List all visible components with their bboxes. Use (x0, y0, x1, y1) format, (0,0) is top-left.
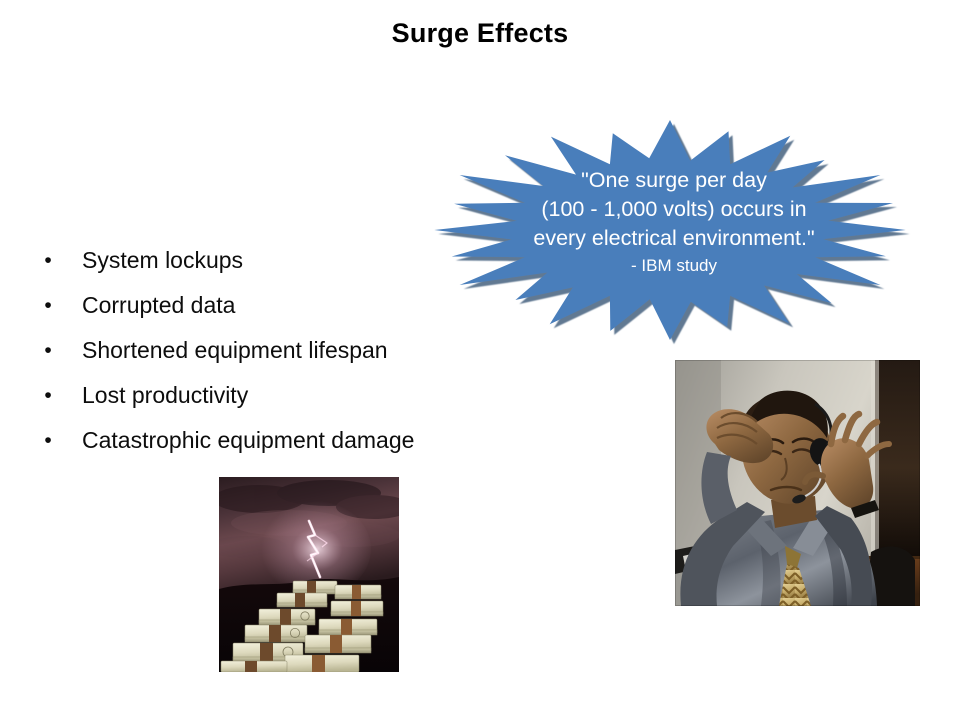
quote-text-block: "One surge per day (100 - 1,000 volts) o… (484, 166, 864, 278)
quote-line: (100 - 1,000 volts) occurs in (484, 195, 864, 224)
money-lightning-photo (219, 477, 399, 672)
bullet-icon: • (42, 238, 54, 283)
list-item: • Catastrophic equipment damage (38, 418, 508, 463)
bullet-icon: • (42, 373, 54, 418)
list-item-label: Lost productivity (82, 382, 248, 408)
list-item-label: Corrupted data (82, 292, 235, 318)
page-title: Surge Effects (0, 17, 960, 49)
money-lightning-illustration (219, 477, 399, 672)
list-item-label: System lockups (82, 247, 243, 273)
quote-line: "One surge per day (484, 166, 864, 195)
bullet-icon: • (42, 283, 54, 328)
stressed-man-photo (675, 360, 920, 606)
bullet-icon: • (42, 328, 54, 373)
list-item: • Lost productivity (38, 373, 508, 418)
bullet-icon: • (42, 418, 54, 463)
quote-callout: "One surge per day (100 - 1,000 volts) o… (424, 118, 924, 350)
list-item-label: Catastrophic equipment damage (82, 427, 414, 453)
list-item-label: Shortened equipment lifespan (82, 337, 388, 363)
stressed-man-illustration (675, 360, 920, 606)
quote-attribution: - IBM study (484, 254, 864, 278)
quote-line: every electrical environment." (484, 224, 864, 253)
